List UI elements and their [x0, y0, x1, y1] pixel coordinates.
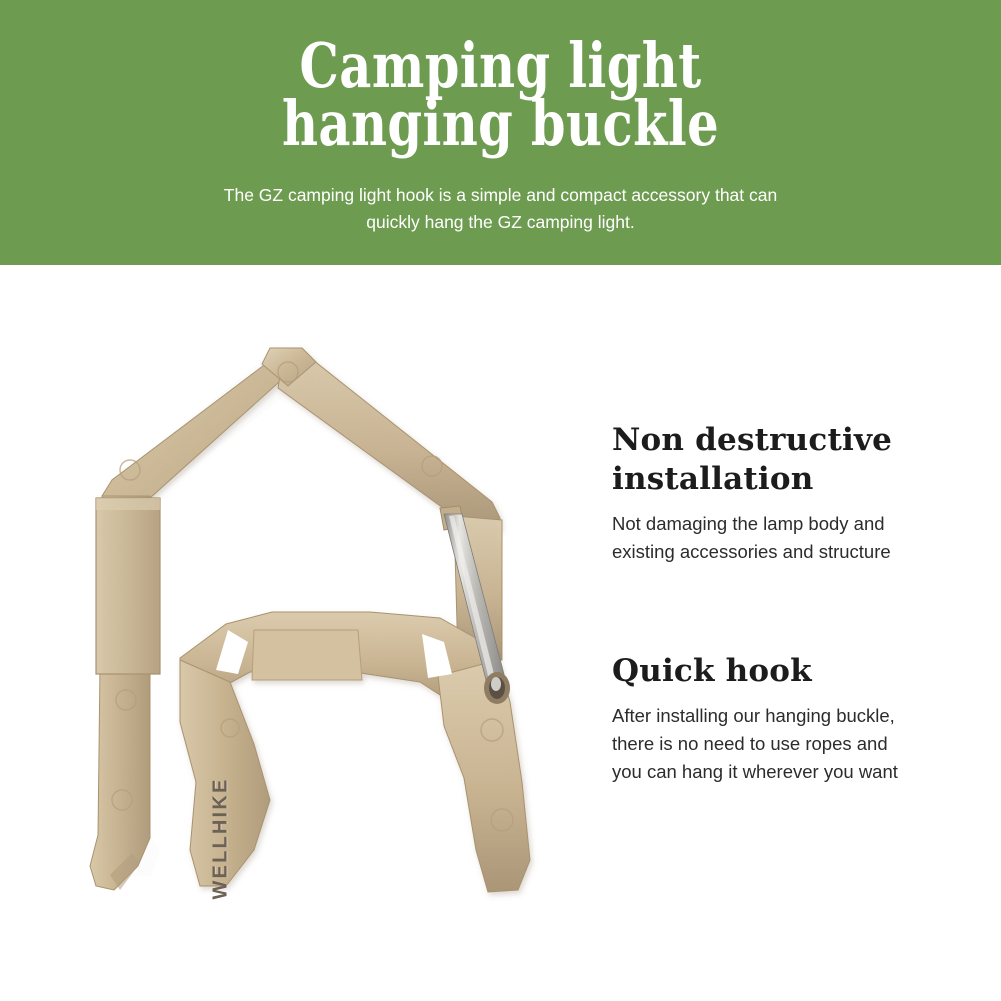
hero-banner: Camping light hanging buckle The GZ camp…: [0, 0, 1001, 265]
feature-2-description-line-3: you can hang it wherever you want: [612, 758, 972, 786]
page-title: Camping light hanging buckle: [100, 37, 901, 153]
feature-1-title: Non destructive installation: [612, 421, 972, 499]
feature-2-title: Quick hook: [612, 652, 972, 691]
page-subtitle-line-2: quickly hang the GZ camping light.: [131, 209, 871, 236]
moulding-dimples: [112, 362, 513, 831]
feature-2-description-line-2: there is no need to use ropes and: [612, 730, 972, 758]
feature-1-description-line-2: existing accessories and structure: [612, 538, 972, 566]
feature-block-non-destructive-installation: Non destructive installation Not damagin…: [612, 421, 972, 566]
page-subtitle: The GZ camping light hook is a simple an…: [131, 182, 871, 236]
feature-1-title-line-1: Non destructive: [612, 421, 972, 460]
feature-2-title-line-1: Quick hook: [612, 652, 972, 691]
feature-1-description: Not damaging the lamp body and existing …: [612, 510, 972, 566]
page-subtitle-line-1: The GZ camping light hook is a simple an…: [131, 182, 871, 209]
feature-1-description-line-1: Not damaging the lamp body and: [612, 510, 972, 538]
feature-1-title-line-2: installation: [612, 460, 972, 499]
page-title-line-2: hanging buckle: [100, 95, 901, 153]
product-illustration: [40, 330, 580, 910]
feature-block-quick-hook: Quick hook After installing our hanging …: [612, 652, 972, 786]
buckle-lower-jaw: [180, 612, 530, 892]
feature-2-description-line-1: After installing our hanging buckle,: [612, 702, 972, 730]
product-infographic-page: Camping light hanging buckle The GZ camp…: [0, 0, 1001, 1001]
feature-2-description: After installing our hanging buckle, the…: [612, 702, 972, 786]
product-image: WELLHIKE: [40, 330, 580, 910]
